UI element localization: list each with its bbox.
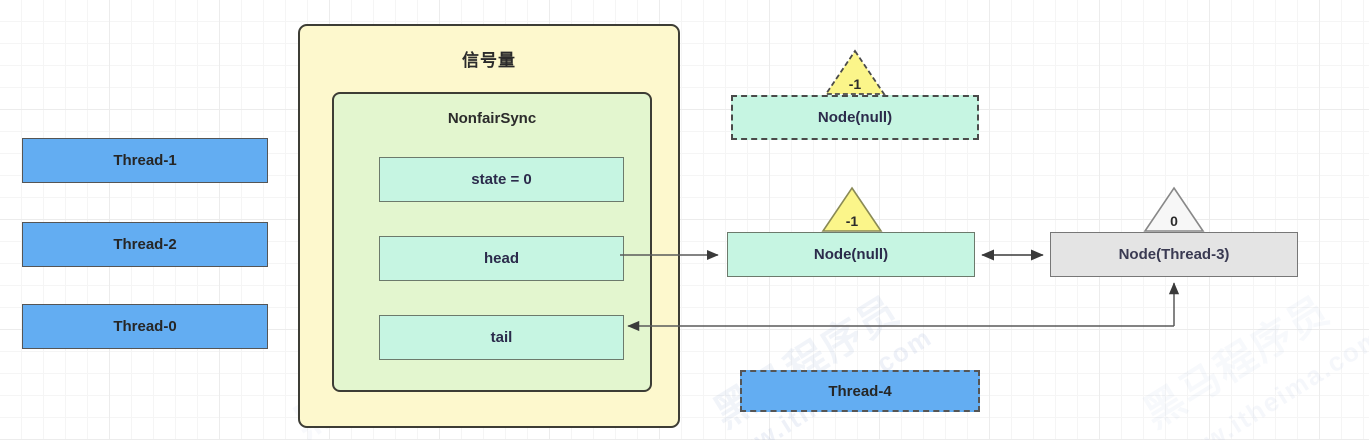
thread-label: Thread-2 xyxy=(113,236,176,253)
tail-field: tail xyxy=(379,315,624,360)
head-field: head xyxy=(379,236,624,281)
watermark-text-primary: 黑马程序员 xyxy=(701,279,910,439)
thread-label: Thread-1 xyxy=(113,152,176,169)
thread-box-1[interactable]: Thread-1 xyxy=(22,138,268,183)
diagram-canvas: 黑马程序员 www.itheima.com 黑马程序员 www.itheima.… xyxy=(0,0,1369,440)
wait-status-label: -1 xyxy=(820,213,884,229)
node-box-cancelled-null: Node(null) xyxy=(731,95,979,140)
wait-status-triangle-1: -1 xyxy=(823,48,887,96)
nonfair-sync-title: NonfairSync xyxy=(334,110,650,127)
node-box-head-null: Node(null) xyxy=(727,232,975,277)
nonfair-sync-container: NonfairSync state = 0 head tail xyxy=(332,92,652,392)
thread-label: Thread-0 xyxy=(113,318,176,335)
head-field-label: head xyxy=(484,250,519,267)
semaphore-title: 信号量 xyxy=(300,46,678,71)
wait-status-label: 0 xyxy=(1142,213,1206,229)
wait-status-triangle-2: -1 xyxy=(820,185,884,233)
state-field: state = 0 xyxy=(379,157,624,202)
watermark-text-secondary-2: www.itheima.com xyxy=(1161,321,1369,440)
state-field-label: state = 0 xyxy=(471,171,531,188)
thread-box-0[interactable]: Thread-0 xyxy=(22,304,268,349)
tail-field-label: tail xyxy=(491,329,513,346)
watermark-text-primary-2: 黑马程序员 xyxy=(1131,279,1340,439)
thread-box-2[interactable]: Thread-2 xyxy=(22,222,268,267)
node-label: Node(Thread-3) xyxy=(1119,246,1230,263)
semaphore-container: 信号量 NonfairSync state = 0 head tail xyxy=(298,24,680,428)
thread-label: Thread-4 xyxy=(828,383,891,400)
thread-box-4-pending[interactable]: Thread-4 xyxy=(740,370,980,412)
wait-status-label: -1 xyxy=(823,76,887,92)
node-label: Node(null) xyxy=(814,246,888,263)
node-box-tail-thread3: Node(Thread-3) xyxy=(1050,232,1298,277)
wait-status-triangle-3: 0 xyxy=(1142,185,1206,233)
node-label: Node(null) xyxy=(818,109,892,126)
